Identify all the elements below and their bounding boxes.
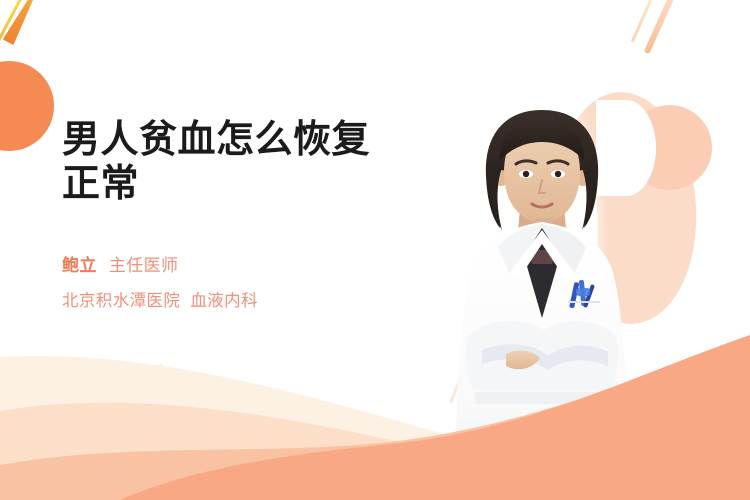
bottom-wave-decoration bbox=[0, 315, 750, 500]
hospital-name: 北京积水潭医院 bbox=[62, 292, 180, 310]
doctor-title: 主任医师 bbox=[109, 256, 179, 275]
doctor-byline: 鲍立主任医师 北京积水潭医院血液内科 bbox=[62, 253, 442, 314]
page-title: 男人贫血怎么恢复 正常 bbox=[62, 118, 442, 206]
doctor-affiliation: 北京积水潭医院血液内科 bbox=[62, 289, 442, 315]
doctor-topic-card: 男人贫血怎么恢复 正常 鲍立主任医师 北京积水潭医院血液内科 bbox=[0, 0, 750, 500]
orange-streak-decoration bbox=[3, 0, 45, 45]
peach-streak-thin-decoration bbox=[631, 0, 663, 42]
orange-circle-decoration bbox=[0, 61, 54, 151]
text-block: 男人贫血怎么恢复 正常 鲍立主任医师 北京积水潭医院血液内科 bbox=[62, 118, 442, 314]
doctor-name: 鲍立 bbox=[62, 256, 97, 275]
yellow-streak-decoration bbox=[0, 0, 29, 41]
peach-streak-decoration bbox=[644, 0, 682, 54]
department-name: 血液内科 bbox=[190, 292, 258, 310]
